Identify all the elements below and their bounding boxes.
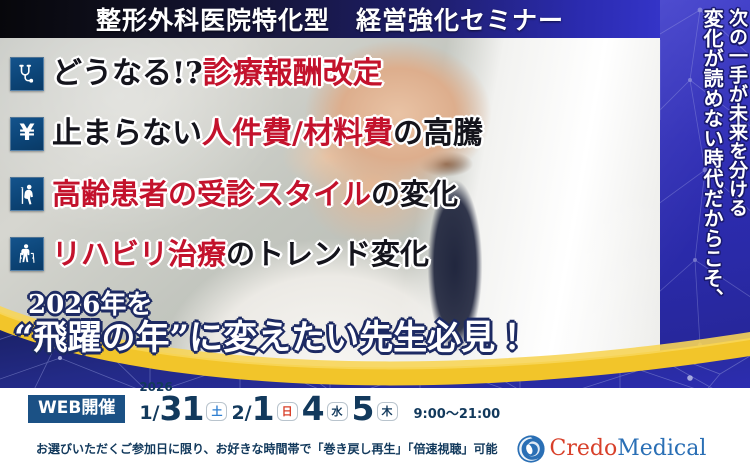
banner-title-bar: 整形外科医院特化型 経営強化セミナー	[0, 0, 660, 38]
bullet-row: ¥ 止まらない人件費/材料費の高騰	[0, 104, 640, 164]
event-date-bar: WEB開催 2026 1/ 31 土 2/ 1 日 4 水 5 木 9:00〜2…	[0, 388, 750, 430]
bullet-list: どうなる!?診療報酬改定 ¥ 止まらない人件費/材料費の高騰 高齢患者の	[0, 44, 640, 284]
page-title: 整形外科医院特化型 経営強化セミナー	[96, 1, 564, 37]
yen-glyph: ¥	[19, 123, 34, 145]
date-month: 2/	[231, 404, 251, 424]
event-year: 2026	[139, 381, 172, 393]
bullet-text-red: 高齢患者の受診スタイル	[52, 177, 371, 211]
bullet-row: どうなる!?診療報酬改定	[0, 44, 640, 104]
date-day: 5	[352, 394, 374, 424]
bullet-text-black-after: の変化	[371, 177, 458, 211]
tagline-block: 2026年を “飛躍の年”に変えたい先生必見！	[0, 292, 640, 357]
stethoscope-icon	[10, 57, 44, 91]
bullet-row: リハビリ治療のトレンド変化	[0, 224, 640, 284]
bullet-text-black-before: 止まらない	[52, 116, 202, 151]
elderly-cane-icon	[10, 177, 44, 211]
bullet-row: 高齢患者の受診スタイルの変化	[0, 164, 640, 224]
credomedical-wordmark: CredoMedical	[550, 438, 707, 460]
bullet-text: リハビリ治療のトレンド変化	[52, 240, 429, 269]
date-dow-badge: 日	[277, 402, 298, 421]
web-event-badge: WEB開催	[28, 395, 125, 423]
bullet-text-red: リハビリ治療	[52, 237, 226, 271]
date-day: 1	[252, 394, 274, 424]
logo-text-medical: Medical	[617, 436, 706, 461]
bullet-text: どうなる!?診療報酬改定	[52, 59, 383, 89]
bullet-text-red: 診療報酬改定	[203, 56, 383, 91]
logo-text-credo: Credo	[550, 436, 618, 461]
bullet-text-red: 人件費/材料費	[202, 116, 393, 151]
credomedical-logo-mark-icon	[516, 434, 546, 464]
date-day: 4	[302, 394, 324, 424]
date-item: 5 木	[352, 394, 402, 424]
bullet-text: 止まらない人件費/材料費の高騰	[52, 119, 483, 149]
bullet-text-black-before: どうなる!?	[52, 56, 203, 91]
credomedical-logo: CredoMedical	[516, 434, 707, 464]
date-item: 1/ 31 土	[139, 394, 231, 424]
date-day: 31	[160, 394, 204, 424]
date-dow-badge: 木	[377, 402, 398, 421]
event-time: 9:00〜21:00	[414, 408, 501, 424]
event-dates: 2026 1/ 31 土 2/ 1 日 4 水 5 木 9:00〜21:00	[139, 394, 500, 424]
seminar-banner: 変化が読めない時代だからこそ、 次の一手が未来を分ける 整形外科医院特化型 経営…	[0, 0, 750, 468]
bullet-text-black-after: のトレンド変化	[226, 237, 429, 271]
bullet-text-black-after: の高騰	[393, 116, 483, 151]
date-dow-badge: 水	[327, 402, 348, 421]
date-item: 4 水	[302, 394, 352, 424]
footer-note: お選びいただくご参加日に限り、お好きな時間帯で「巻き戻し再生」「倍速視聴」可能	[36, 443, 498, 455]
date-dow-badge: 土	[206, 402, 227, 421]
tagline-line2: “飛躍の年”に変えたい先生必見！	[14, 321, 640, 357]
date-item: 2/ 1 日	[231, 394, 301, 424]
tagline-line1: 2026年を	[28, 292, 640, 319]
footer-bar: お選びいただくご参加日に限り、お好きな時間帯で「巻き戻し再生」「倍速視聴」可能 …	[0, 430, 750, 468]
bullet-text: 高齢患者の受診スタイルの変化	[52, 180, 458, 209]
yen-icon: ¥	[10, 117, 44, 151]
walker-icon	[10, 237, 44, 271]
date-month: 1/	[139, 404, 159, 424]
